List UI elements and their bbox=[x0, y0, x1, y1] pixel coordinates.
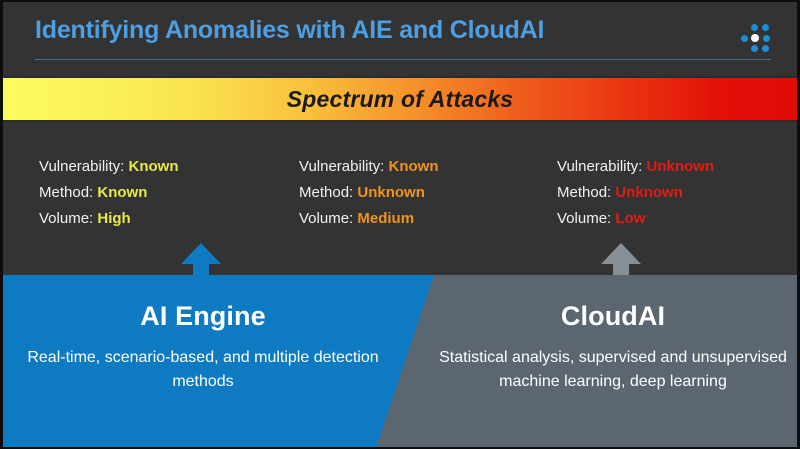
attribute-value: Low bbox=[615, 210, 645, 227]
attribute-row: Vulnerability: Known bbox=[39, 154, 179, 180]
attribute-column-known: Vulnerability: Known Method: Known Volum… bbox=[39, 154, 179, 232]
attribute-label: Vulnerability: bbox=[557, 158, 642, 175]
header-divider bbox=[35, 59, 771, 60]
attribute-column-unknown: Vulnerability: Unknown Method: Unknown V… bbox=[557, 154, 714, 232]
page-title: Identifying Anomalies with AIE and Cloud… bbox=[35, 16, 544, 45]
bottom-panels: AI Engine Real-time, scenario-based, and… bbox=[3, 275, 797, 449]
attribute-label: Volume: bbox=[557, 210, 611, 227]
arrow-head bbox=[181, 243, 221, 264]
attribute-row: Vulnerability: Known bbox=[299, 154, 439, 180]
attribute-row: Method: Unknown bbox=[299, 180, 439, 206]
attribute-value: High bbox=[97, 210, 130, 227]
panel-heading-cloudai: CloudAI bbox=[433, 301, 793, 332]
slide-canvas: Identifying Anomalies with AIE and Cloud… bbox=[0, 0, 800, 449]
attribute-value: Unknown bbox=[357, 184, 425, 201]
attribute-row: Volume: Medium bbox=[299, 206, 439, 232]
panel-content-cloudai: CloudAI Statistical analysis, supervised… bbox=[433, 301, 793, 394]
attribute-label: Volume: bbox=[39, 210, 93, 227]
spectrum-label: Spectrum of Attacks bbox=[287, 86, 514, 113]
panel-description-ai-engine: Real-time, scenario-based, and multiple … bbox=[3, 346, 403, 394]
slide-header: Identifying Anomalies with AIE and Cloud… bbox=[3, 2, 797, 74]
attribute-row: Method: Unknown bbox=[557, 180, 714, 206]
attribute-column-mixed: Vulnerability: Known Method: Unknown Vol… bbox=[299, 154, 439, 232]
logitech-dots-logo-icon bbox=[741, 24, 771, 54]
attribute-label: Method: bbox=[299, 184, 353, 201]
attribute-value: Unknown bbox=[647, 158, 715, 175]
attribute-value: Known bbox=[129, 158, 179, 175]
attribute-row: Volume: Low bbox=[557, 206, 714, 232]
spectrum-of-attacks-bar: Spectrum of Attacks bbox=[3, 76, 797, 122]
attribute-label: Vulnerability: bbox=[299, 158, 384, 175]
arrow-head bbox=[601, 243, 641, 264]
attribute-value: Unknown bbox=[615, 184, 683, 201]
attribute-row: Volume: High bbox=[39, 206, 179, 232]
attribute-label: Vulnerability: bbox=[39, 158, 124, 175]
attribute-row: Vulnerability: Unknown bbox=[557, 154, 714, 180]
attribute-value: Known bbox=[97, 184, 147, 201]
panel-heading-ai-engine: AI Engine bbox=[3, 301, 403, 332]
attribute-label: Method: bbox=[39, 184, 93, 201]
attribute-row: Method: Known bbox=[39, 180, 179, 206]
panel-description-cloudai: Statistical analysis, supervised and uns… bbox=[433, 346, 793, 394]
attribute-value: Medium bbox=[357, 210, 414, 227]
attribute-label: Method: bbox=[557, 184, 611, 201]
attribute-label: Volume: bbox=[299, 210, 353, 227]
attribute-value: Known bbox=[389, 158, 439, 175]
panel-content-ai-engine: AI Engine Real-time, scenario-based, and… bbox=[3, 301, 403, 394]
